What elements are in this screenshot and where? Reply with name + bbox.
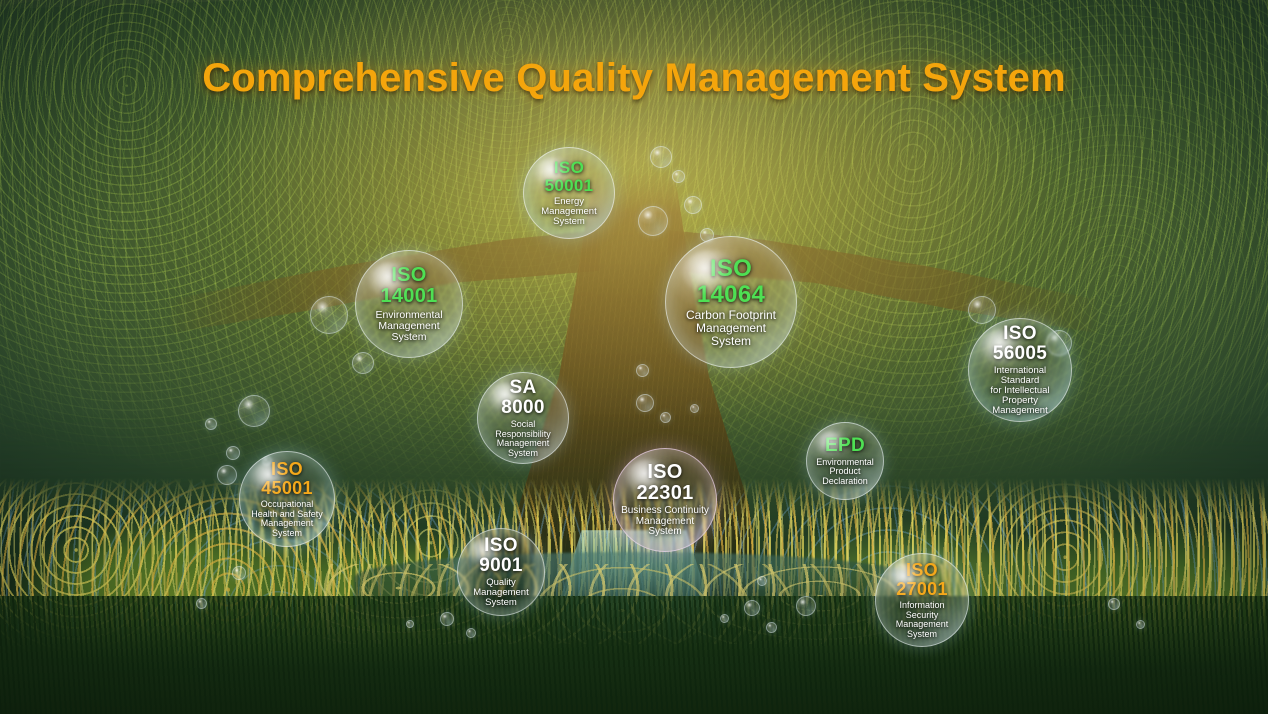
certification-bubble-iso-9001[interactable]: ISO9001Quality Management System bbox=[457, 528, 545, 616]
bubble-code-iso-27001: ISO27001 bbox=[896, 561, 948, 599]
bubble-description-iso-50001: Energy Management System bbox=[535, 197, 602, 227]
bubble-code-iso-9001: ISO9001 bbox=[479, 536, 522, 576]
bubble-code-line2: 14064 bbox=[697, 282, 765, 307]
bubble-description-sa-8000: Social Responsibility Management System bbox=[478, 420, 568, 458]
bubble-description-iso-27001: Information Security Management System bbox=[876, 601, 968, 639]
bubble-description-epd: Environmental Product Declaration bbox=[810, 458, 880, 487]
decor-bubble bbox=[232, 566, 246, 580]
certification-bubble-sa-8000[interactable]: SA8000Social Responsibility Management S… bbox=[477, 372, 569, 464]
decor-bubble bbox=[406, 620, 414, 628]
bubble-code-line2: 9001 bbox=[479, 556, 522, 576]
bubble-description-iso-45001: Occupational Health and Safety Managemen… bbox=[245, 500, 329, 538]
bubble-code-line1: ISO bbox=[697, 256, 765, 281]
bubble-code-line1: ISO bbox=[896, 561, 948, 580]
bubble-code-iso-56005: ISO56005 bbox=[993, 324, 1047, 364]
bubble-code-iso-14064: ISO14064 bbox=[697, 256, 765, 307]
bubble-code-iso-50001: ISO50001 bbox=[545, 159, 594, 195]
decor-bubble bbox=[636, 364, 649, 377]
bubble-description-iso-14064: Carbon Footprint Management System bbox=[680, 309, 782, 347]
decor-bubble bbox=[352, 352, 374, 374]
decor-bubble bbox=[217, 465, 237, 485]
decor-bubble bbox=[796, 596, 816, 616]
bubble-description-iso-22301: Business Continuity Management System bbox=[615, 506, 715, 538]
bubble-code-line1: EPD bbox=[825, 436, 865, 456]
certification-bubble-iso-14064[interactable]: ISO14064Carbon Footprint Management Syst… bbox=[665, 236, 797, 368]
light-streak-left bbox=[0, 96, 391, 454]
bubble-description-iso-56005: International Standard for Intellectual … bbox=[969, 366, 1071, 416]
decor-bubble bbox=[968, 296, 996, 324]
certification-bubble-iso-50001[interactable]: ISO50001Energy Management System bbox=[523, 147, 615, 239]
decor-bubble bbox=[720, 614, 729, 623]
page-title: Comprehensive Quality Management System bbox=[0, 56, 1268, 101]
certification-bubble-iso-45001[interactable]: ISO45001Occupational Health and Safety M… bbox=[239, 451, 335, 547]
decor-bubble bbox=[650, 146, 672, 168]
decor-bubble bbox=[1108, 598, 1120, 610]
decor-bubble bbox=[466, 628, 476, 638]
bubble-code-line2: 50001 bbox=[545, 177, 594, 195]
decor-bubble bbox=[638, 206, 668, 236]
decor-bubble bbox=[238, 395, 270, 427]
decor-bubble bbox=[226, 446, 240, 460]
bubble-code-line1: ISO bbox=[380, 265, 437, 286]
bubble-code-line1: SA bbox=[501, 378, 544, 398]
decor-bubble bbox=[672, 170, 685, 183]
bubble-code-line2: 14001 bbox=[380, 286, 437, 307]
bubble-description-iso-14001: Environmental Management System bbox=[369, 310, 448, 343]
certification-bubble-epd[interactable]: EPDEnvironmental Product Declaration bbox=[806, 422, 884, 500]
decor-bubble bbox=[684, 196, 702, 214]
decor-bubble bbox=[690, 404, 699, 413]
bubble-code-line1: ISO bbox=[545, 159, 594, 177]
bubble-code-line2: 8000 bbox=[501, 398, 544, 418]
decor-bubble bbox=[766, 622, 777, 633]
foreground-grass bbox=[0, 596, 1268, 714]
bubble-code-line1: ISO bbox=[479, 536, 522, 556]
certification-bubble-iso-22301[interactable]: ISO22301Business Continuity Management S… bbox=[613, 448, 717, 552]
bubble-code-iso-22301: ISO22301 bbox=[636, 462, 693, 504]
bubble-code-line1: ISO bbox=[993, 324, 1047, 344]
decor-bubble bbox=[205, 418, 217, 430]
bubble-code-iso-14001: ISO14001 bbox=[380, 265, 437, 307]
decor-bubble bbox=[744, 600, 760, 616]
bubble-code-sa-8000: SA8000 bbox=[501, 378, 544, 418]
decor-bubble bbox=[1136, 620, 1145, 629]
certification-bubble-iso-56005[interactable]: ISO56005International Standard for Intel… bbox=[968, 318, 1072, 422]
bubble-code-line1: ISO bbox=[636, 462, 693, 483]
decor-bubble bbox=[636, 394, 654, 412]
bubble-description-iso-9001: Quality Management System bbox=[467, 578, 534, 608]
bubble-code-line2: 56005 bbox=[993, 344, 1047, 364]
bubble-code-line2: 45001 bbox=[261, 479, 313, 498]
bubble-code-line2: 22301 bbox=[636, 483, 693, 504]
decor-bubble bbox=[660, 412, 671, 423]
bubble-code-epd: EPD bbox=[825, 436, 865, 456]
certification-bubble-iso-27001[interactable]: ISO27001Information Security Management … bbox=[875, 553, 969, 647]
bubble-code-iso-45001: ISO45001 bbox=[261, 460, 313, 498]
decor-bubble bbox=[310, 296, 348, 334]
decor-bubble bbox=[757, 576, 767, 586]
decor-bubble bbox=[440, 612, 454, 626]
bubble-code-line1: ISO bbox=[261, 460, 313, 479]
certification-bubble-iso-14001[interactable]: ISO14001Environmental Management System bbox=[355, 250, 463, 358]
bubble-code-line2: 27001 bbox=[896, 580, 948, 599]
poster-canvas: Comprehensive Quality Management System … bbox=[0, 0, 1268, 714]
decor-bubble bbox=[196, 598, 207, 609]
